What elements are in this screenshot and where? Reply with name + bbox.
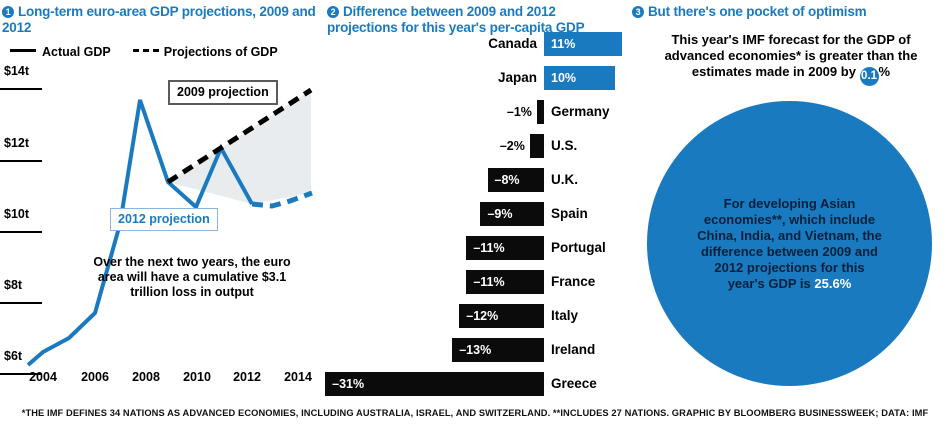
gap-band-area [168,90,311,204]
panel-per-capita-difference: 2Difference between 2009 and 2012 projec… [325,0,635,400]
advanced-economies-value-badge: 0.1 [860,67,879,86]
bar-value: –12% [459,309,498,323]
panel2-header: 2Difference between 2009 and 2012 projec… [327,4,627,35]
asia-circle-body: For developing Asian economies**, which … [697,196,882,291]
line-chart-plot [0,0,330,400]
bar-value: 10% [544,71,576,85]
panel-gdp-projections: 1Long-term euro-area GDP projections, 20… [0,0,330,400]
asia-circle-stat: For developing Asian economies**, which … [647,101,932,386]
bar-row: 10%Japan [325,66,635,90]
asia-circle-value: 25.6% [814,276,851,291]
bar-label: U.K. [551,168,578,192]
bar-row: –13%Ireland [325,338,635,362]
bar-value: 11% [544,37,575,51]
bar-label: France [551,270,595,294]
bar-label: Portugal [551,236,606,260]
panel2-number-badge: 2 [327,6,339,18]
bar-germany [537,100,544,124]
bar-row: –11%Portugal [325,236,635,260]
asia-circle-text: For developing Asian economies**, which … [697,196,882,292]
bar-greece: –31% [325,372,544,396]
bar-portugal: –11% [466,236,544,260]
bar-row: –12%Italy [325,304,635,328]
bar-value: –8% [488,173,520,187]
bar-value: –1% [325,100,532,124]
bar-label: Canada [325,32,537,56]
panel3-note: This year's IMF forecast for the GDP of … [660,32,922,86]
callout-2009-projection: 2009 projection [168,80,278,105]
bar-value: –11% [466,241,504,255]
footnote: *THE IMF DEFINES 34 NATIONS AS ADVANCED … [0,408,950,418]
bar-france: –11% [466,270,544,294]
panel3-number-badge: 3 [632,6,644,18]
bar-spain: –9% [480,202,544,226]
bar-row: –9%Spain [325,202,635,226]
bar-italy: –12% [459,304,544,328]
bar-uk: –8% [488,168,544,192]
callout-2012-projection: 2012 projection [110,208,218,231]
bar-row: –1%Germany [325,100,635,124]
bar-value: –31% [325,377,364,391]
bar-label: Spain [551,202,588,226]
bar-label: Germany [551,100,610,124]
panel3-title: But there's one pocket of optimism [648,4,866,19]
bar-chart-container: 11%Canada10%Japan–1%Germany–2%U.S.–8%U.K… [325,32,635,406]
bar-row: 11%Canada [325,32,635,56]
bar-japan: 10% [544,66,615,90]
panel-pocket-of-optimism: 3But there's one pocket of optimism This… [630,0,950,400]
panel3-note-percent: % [879,64,891,79]
panel3-header: 3But there's one pocket of optimism [632,4,950,20]
bar-label: U.S. [551,134,577,158]
panel2-title: Difference between 2009 and 2012 project… [327,4,584,35]
bar-label: Greece [551,372,597,396]
bar-value: –2% [325,134,525,158]
bar-value: –13% [452,343,491,357]
bar-value: –9% [480,207,512,221]
panel1-note: Over the next two years, the euro area w… [82,255,302,300]
bar-row: –31%Greece [325,372,635,396]
bar-us [530,134,544,158]
bar-canada: 11% [544,32,622,56]
bar-value: –11% [466,275,504,289]
bar-label: Japan [325,66,537,90]
bar-label: Ireland [551,338,595,362]
bar-row: –8%U.K. [325,168,635,192]
actual-gdp-line [28,100,252,365]
bar-label: Italy [551,304,578,328]
bar-row: –2%U.S. [325,134,635,158]
bar-ireland: –13% [452,338,544,362]
bar-row: –11%France [325,270,635,294]
